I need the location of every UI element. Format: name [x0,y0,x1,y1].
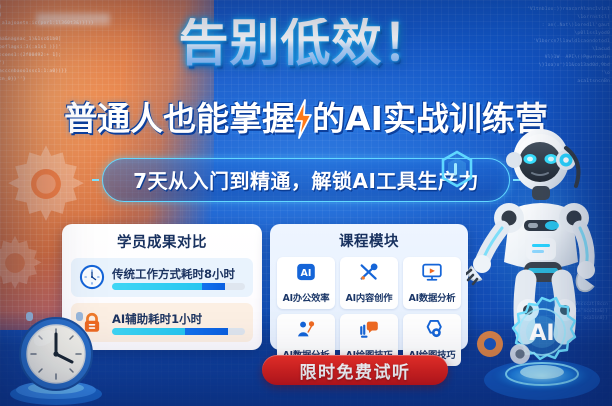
comparison-row-traditional: 传统工作方式耗时8小时 [71,258,253,297]
lightning-bolt-icon [292,99,314,139]
module-label: AI内容创作 [346,293,393,304]
headline-exclamation: ！ [383,18,434,68]
progress-bar-ai [112,328,245,335]
ai-hologram-illustration: AI [476,292,608,404]
hex-gear-icon [421,327,443,344]
progress-segment-cyan [112,328,185,335]
comparison-label-traditional: 传统工作方式耗时8小时 [112,267,235,281]
ai-badge-icon: AI [295,270,317,287]
comparison-body-traditional: 传统工作方式耗时8小时 [112,265,245,290]
progress-segment-blue [202,283,225,290]
subtitle-part-1: 普通人也能掌握 [64,102,295,135]
comparison-body-ai: AI辅助耗时1小时 [112,310,245,335]
comparison-label-ai: AI辅助耗时1小时 [112,312,202,326]
module-item-content-creation[interactable]: AI内容创作 [340,257,398,309]
module-label: AI办公效率 [283,293,330,304]
course-modules-title: 课程模块 [277,230,461,251]
course-modules-grid: AI AI办公效率 AI内容创作 [277,257,461,366]
module-item-office-efficiency[interactable]: AI AI办公效率 [277,257,335,309]
headline-container: 告别低效！ [0,18,612,68]
clock-icon [79,264,105,290]
hand-speech-icon [358,327,380,344]
course-modules-card: 课程模块 AI AI办公效率 [270,224,468,350]
module-item-data-analysis-1[interactable]: AI数据分析 [403,257,461,309]
poster-root: {( j) a1ajoaetn:ic(por1:1l360t3&)}])} [a… [0,0,612,406]
cta-free-trial-button[interactable]: 限时免费试听 [262,355,448,385]
progress-segment-cyan [112,283,202,290]
module-label: AI数据分析 [409,293,456,304]
monitor-play-icon [421,270,443,287]
person-chart-icon [295,327,317,344]
student-results-title: 学员成果对比 [71,231,253,252]
svg-text:AI: AI [301,268,312,279]
pen-brush-icon [358,270,380,287]
progress-segment-blue [185,328,228,335]
headline-text: 告别低效 [179,18,383,68]
gear-icon [0,232,46,294]
progress-bar-traditional [112,283,245,290]
alarm-clock-illustration [4,298,108,406]
ai-hologram-label: AI [529,321,554,346]
